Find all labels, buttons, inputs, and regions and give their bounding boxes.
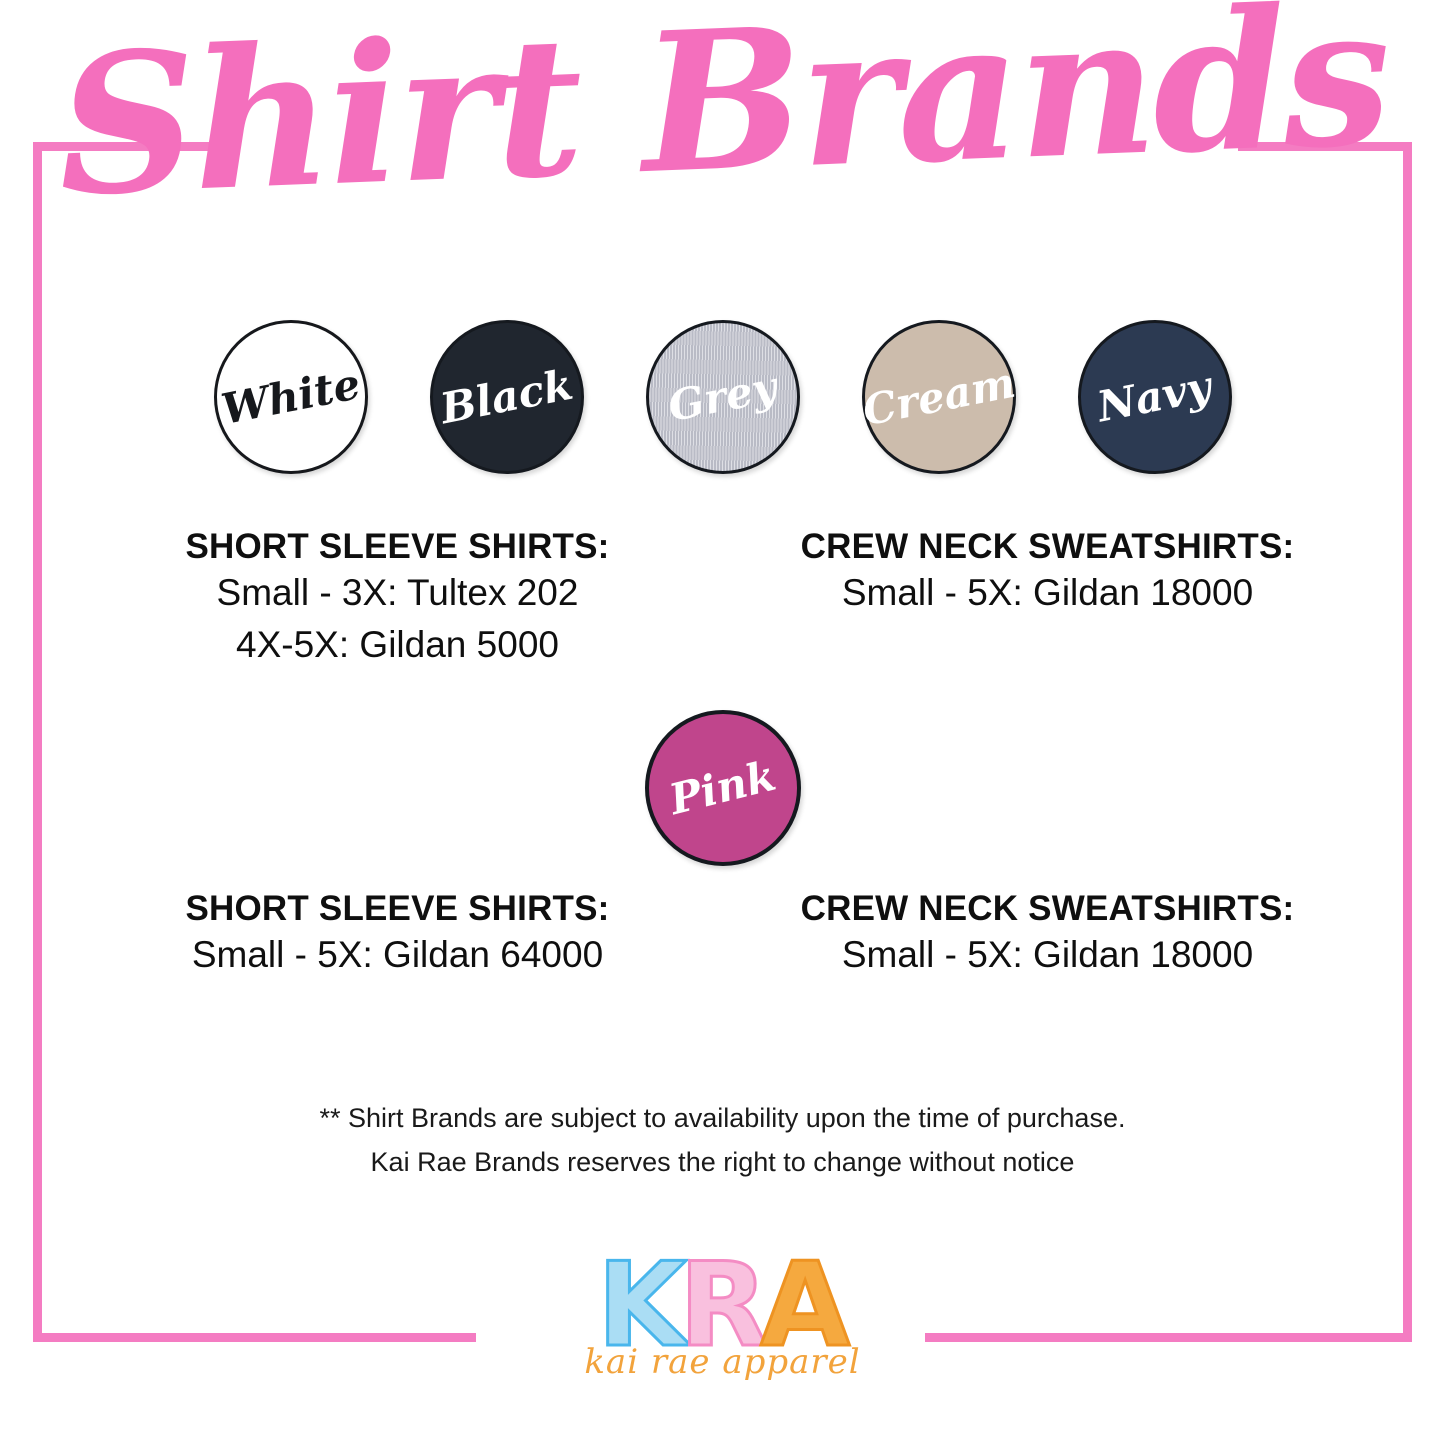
info-line-crew-neck-bottom-1: Small - 5X: Gildan 18000 [750, 929, 1345, 982]
swatch-grey: Grey [646, 320, 800, 474]
swatch-label-navy: Navy [1094, 365, 1214, 428]
swatch-label-black: Black [437, 364, 576, 431]
swatch-white: White [214, 320, 368, 474]
swatch-black: Black [430, 320, 584, 474]
swatch-cream: Cream [862, 320, 1016, 474]
info-line-crew-neck-top-1: Small - 5X: Gildan 18000 [750, 567, 1345, 620]
info-heading-short-sleeve-top: SHORT SLEEVE SHIRTS: [100, 528, 695, 567]
page-title: Shirt Brands [0, 0, 1445, 226]
info-block-short-sleeve-bottom: SHORT SLEEVE SHIRTS: Small - 5X: Gildan … [100, 890, 695, 981]
shirt-brands-graphic: Shirt Brands White Black Grey Cream Navy… [0, 0, 1445, 1445]
info-heading-crew-neck-bottom: CREW NECK SWEATSHIRTS: [750, 890, 1345, 929]
info-line-short-sleeve-top-2: 4X-5X: Gildan 5000 [100, 619, 695, 672]
swatch-label-grey: Grey [665, 366, 780, 428]
info-block-crew-neck-bottom: CREW NECK SWEATSHIRTS: Small - 5X: Gilda… [750, 890, 1345, 981]
disclaimer-line-2: Kai Rae Brands reserves the right to cha… [0, 1141, 1445, 1185]
info-block-crew-neck-top: CREW NECK SWEATSHIRTS: Small - 5X: Gilda… [750, 528, 1345, 619]
info-line-short-sleeve-top-1: Small - 3X: Tultex 202 [100, 567, 695, 620]
swatch-label-cream: Cream [859, 362, 1018, 433]
swatch-label-pink: Pink [665, 755, 779, 822]
swatch-label-white: White [218, 363, 363, 431]
info-block-short-sleeve-top: SHORT SLEEVE SHIRTS: Small - 3X: Tultex … [100, 528, 695, 672]
swatch-row-pink: Pink [0, 710, 1445, 866]
disclaimer-line-1: ** Shirt Brands are subject to availabil… [0, 1097, 1445, 1141]
disclaimer: ** Shirt Brands are subject to availabil… [0, 1097, 1445, 1184]
logo-tagline: kai rae apparel [0, 1342, 1445, 1382]
swatch-navy: Navy [1078, 320, 1232, 474]
info-line-short-sleeve-bottom-1: Small - 5X: Gildan 64000 [100, 929, 695, 982]
info-heading-crew-neck-top: CREW NECK SWEATSHIRTS: [750, 528, 1345, 567]
info-heading-short-sleeve-bottom: SHORT SLEEVE SHIRTS: [100, 890, 695, 929]
swatch-pink: Pink [645, 710, 801, 866]
swatch-row-primary: White Black Grey Cream Navy [0, 320, 1445, 474]
brand-logo: KRA kai rae apparel [0, 1248, 1445, 1382]
